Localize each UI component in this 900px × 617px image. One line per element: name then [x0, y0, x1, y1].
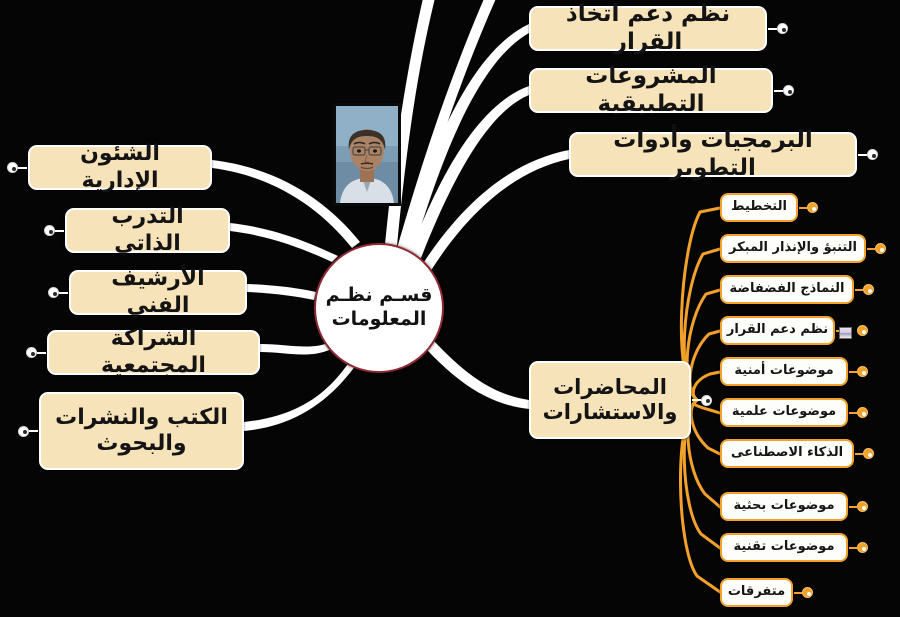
main-node-lectures-and-consultations[interactable]: المحاضرات والاستشارات — [529, 361, 691, 439]
handle-ring — [875, 243, 886, 254]
sub-node-artificial-intelligence[interactable]: الذكاء الاصطناعى — [720, 439, 854, 468]
collapse-handle-books-bulletins-research[interactable] — [18, 426, 29, 437]
collapse-handle-decision-support[interactable] — [857, 325, 868, 336]
handle-stub — [855, 289, 863, 291]
main-node-label: الكتب والنشرات والبحوث — [47, 403, 236, 460]
mindmap-canvas: قسـم نظـم المعلومات — [0, 0, 900, 617]
main-node-label: نظم دعم اتخاذ القرار — [531, 0, 765, 58]
handle-ring — [807, 202, 818, 213]
collapse-handle-software-and-dev-tools[interactable] — [867, 149, 878, 160]
collapse-handle-fuzzy-models[interactable] — [863, 284, 874, 295]
handle-stub — [849, 371, 857, 373]
branch-to-applied-projects — [409, 86, 529, 258]
handle-stub — [849, 506, 857, 508]
handle-ring — [857, 407, 868, 418]
branch-offscreen-b — [396, 0, 498, 254]
handle-ring — [802, 587, 813, 598]
handle-stub — [29, 430, 38, 432]
handle-ring — [18, 426, 29, 437]
sub-node-security-topics[interactable]: موضوعات أمنية — [720, 357, 848, 386]
main-node-label: المشروعات التطبيقية — [531, 61, 771, 120]
handle-ring — [867, 149, 878, 160]
handle-stub — [855, 453, 863, 455]
handle-stub — [692, 399, 701, 401]
handle-ring — [48, 287, 59, 298]
branch-to-technical-archive — [247, 284, 316, 300]
center-node[interactable]: قسـم نظـم المعلومات — [314, 243, 444, 373]
subbranch-to-decision-support — [690, 331, 720, 400]
branch-to-self-training — [230, 223, 338, 262]
subbranch-to-fuzzy-models — [687, 290, 720, 400]
main-node-self-training[interactable]: التدرب الذاتي — [65, 208, 230, 253]
handle-ring — [863, 284, 874, 295]
collapse-handle-forecasting-early-warning[interactable] — [875, 243, 886, 254]
subbranch-to-artificial-intelligence — [691, 400, 720, 454]
main-node-books-bulletins-research[interactable]: الكتب والنشرات والبحوث — [39, 392, 244, 470]
main-node-community-partnership[interactable]: الشراكة المجتمعية — [47, 330, 260, 375]
branch-to-software-and-dev-tools — [420, 150, 569, 272]
collapse-handle-self-training[interactable] — [44, 225, 55, 236]
main-node-label: المحاضرات والاستشارات — [535, 373, 686, 427]
collapse-handle-research-topics[interactable] — [857, 501, 868, 512]
handle-stub — [794, 592, 802, 594]
handle-ring — [857, 542, 868, 553]
handle-stub — [768, 28, 777, 30]
sub-node-label: موضوعات علمية — [726, 404, 842, 421]
main-node-administrative-affairs[interactable]: الشئون الإدارية — [28, 145, 212, 190]
collapse-handle-lectures-and-consultations[interactable] — [701, 395, 712, 406]
collapse-handle-administrative-affairs[interactable] — [7, 162, 18, 173]
handle-ring — [783, 85, 794, 96]
handle-ring — [7, 162, 18, 173]
handle-stub — [799, 207, 807, 209]
handle-stub — [858, 154, 867, 156]
main-node-label: الشئون الإدارية — [30, 139, 210, 196]
sub-node-label: موضوعات أمنية — [728, 363, 839, 380]
sub-node-label: التخطيط — [725, 199, 793, 216]
handle-ring — [701, 395, 712, 406]
handle-stub — [18, 167, 27, 169]
handle-ring — [857, 366, 868, 377]
collapse-handle-artificial-intelligence[interactable] — [863, 448, 874, 459]
collapse-handle-scientific-topics[interactable] — [857, 407, 868, 418]
handle-stub — [774, 90, 783, 92]
main-node-software-and-dev-tools[interactable]: البرمجيات وأدوات التطوير — [569, 132, 857, 177]
sub-node-decision-support[interactable]: نظم دعم القرار — [720, 316, 835, 345]
handle-stub — [867, 248, 875, 250]
sub-node-technical-topics[interactable]: موضوعات تقنية — [720, 533, 848, 562]
handle-stub — [59, 292, 68, 294]
sub-node-miscellaneous[interactable]: متفرقات — [720, 578, 793, 607]
portrait-photo — [333, 103, 401, 206]
handle-ring — [863, 448, 874, 459]
branch-to-decision-support-systems — [401, 24, 529, 252]
sub-node-label: الذكاء الاصطناعى — [725, 445, 849, 462]
main-node-applied-projects[interactable]: المشروعات التطبيقية — [529, 68, 773, 113]
handle-ring — [777, 23, 788, 34]
sub-node-scientific-topics[interactable]: موضوعات علمية — [720, 398, 848, 427]
collapse-handle-security-topics[interactable] — [857, 366, 868, 377]
main-node-label: البرمجيات وأدوات التطوير — [571, 125, 855, 184]
sub-node-label: التنبؤ والإنذار المبكر — [723, 240, 863, 257]
main-node-label: التدرب الذاتي — [67, 202, 228, 259]
collapse-handle-planning[interactable] — [807, 202, 818, 213]
sub-node-label: النماذج الفضفاضة — [724, 281, 851, 298]
collapse-handle-decision-support-systems[interactable] — [777, 23, 788, 34]
handle-stub — [55, 230, 64, 232]
sub-node-label: متفرقات — [722, 584, 791, 601]
sub-node-label: موضوعات تقنية — [728, 539, 841, 556]
main-node-decision-support-systems[interactable]: نظم دعم اتخاذ القرار — [529, 6, 767, 51]
collapse-handle-technical-topics[interactable] — [857, 542, 868, 553]
collapse-handle-miscellaneous[interactable] — [802, 587, 813, 598]
main-node-label: الأرشيف الفني — [71, 264, 245, 321]
sub-node-fuzzy-models[interactable]: النماذج الفضفاضة — [720, 275, 854, 304]
collapse-handle-technical-archive[interactable] — [48, 287, 59, 298]
handle-ring — [857, 325, 868, 336]
sub-node-research-topics[interactable]: موضوعات بحثية — [720, 492, 848, 521]
center-node-label: قسـم نظـم المعلومات — [320, 284, 439, 332]
handle-stub — [37, 352, 46, 354]
subbranch-to-research-topics — [688, 400, 720, 507]
main-node-technical-archive[interactable]: الأرشيف الفني — [69, 270, 247, 315]
handle-ring — [26, 347, 37, 358]
sub-node-planning[interactable]: التخطيط — [720, 193, 798, 222]
handle-ring — [857, 501, 868, 512]
collapse-handle-applied-projects[interactable] — [783, 85, 794, 96]
sub-node-label: موضوعات بحثية — [728, 498, 841, 515]
main-node-label: الشراكة المجتمعية — [49, 324, 258, 381]
sub-node-forecasting-early-warning[interactable]: التنبؤ والإنذار المبكر — [720, 234, 866, 263]
portrait-photo-image — [336, 106, 398, 203]
sub-node-label: نظم دعم القرار — [721, 322, 834, 339]
handle-ring — [44, 225, 55, 236]
handle-stub — [849, 547, 857, 549]
attachment-image-icon[interactable] — [839, 327, 852, 339]
collapse-handle-community-partnership[interactable] — [26, 347, 37, 358]
handle-stub — [849, 412, 857, 414]
